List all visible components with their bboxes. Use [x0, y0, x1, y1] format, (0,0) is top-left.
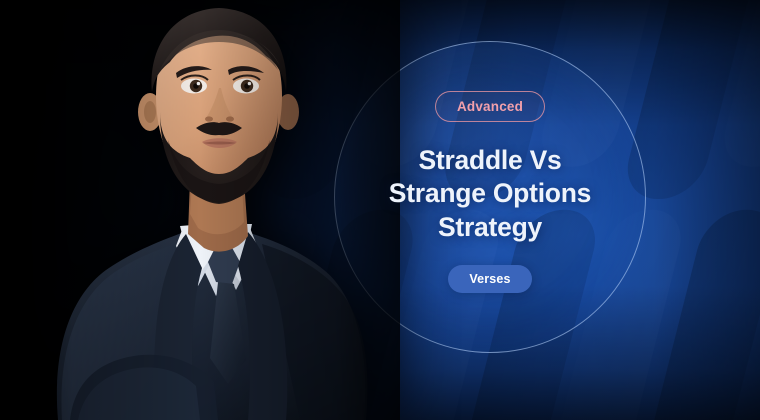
course-banner: Advanced Straddle Vs Strange Options Str… [0, 0, 760, 420]
banner-content: Advanced Straddle Vs Strange Options Str… [334, 41, 646, 353]
title-line-3: Strategy [389, 211, 591, 244]
category-badge[interactable]: Verses [448, 265, 531, 293]
title-line-2: Strange Options [389, 177, 591, 210]
title-line-1: Straddle Vs [389, 144, 591, 177]
page-title: Straddle Vs Strange Options Strategy [389, 144, 591, 244]
level-badge[interactable]: Advanced [435, 91, 545, 122]
